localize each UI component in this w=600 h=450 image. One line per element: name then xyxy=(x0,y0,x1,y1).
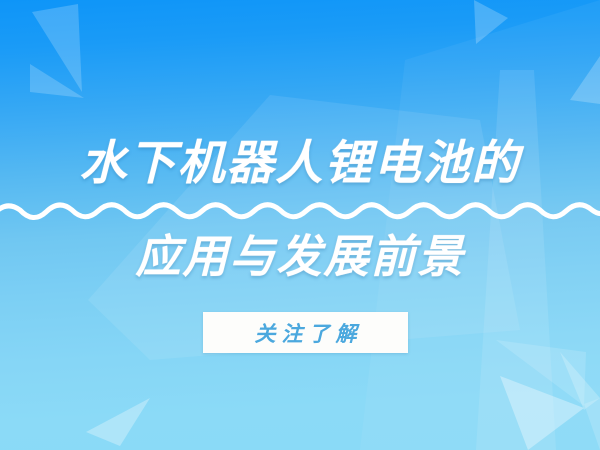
follow-cta-button[interactable]: 关注了解 xyxy=(203,312,408,353)
deco-triangle-bottomright-a xyxy=(500,376,584,450)
deco-triangle-topright-a xyxy=(474,0,508,44)
deco-triangle-topright-b xyxy=(570,56,600,104)
deco-triangle-topleft-a xyxy=(32,4,82,92)
deco-triangle-topleft-b xyxy=(30,64,84,98)
deco-triangle-bottomright-c xyxy=(584,398,600,450)
poster-canvas: 水下机器人锂电池的 应用与发展前景 关注了解 xyxy=(0,0,600,450)
title-line-1-wrapper: 水下机器人锂电池的 xyxy=(0,134,600,194)
deco-triangle-bottomleft xyxy=(86,398,150,446)
follow-cta-label: 关注了解 xyxy=(249,318,363,348)
wavy-divider xyxy=(0,198,600,224)
deco-triangle-bottomright-b xyxy=(560,352,600,410)
deco-triangle-bottomright-d xyxy=(496,340,586,406)
deco-wedge-right xyxy=(360,0,600,450)
background-decoration xyxy=(0,0,600,450)
title-line-2-wrapper: 应用与发展前景 xyxy=(0,228,600,286)
poster-title-line-1: 水下机器人锂电池的 xyxy=(80,138,521,190)
wavy-divider-path xyxy=(0,205,600,218)
poster-title-line-2: 应用与发展前景 xyxy=(135,232,464,282)
